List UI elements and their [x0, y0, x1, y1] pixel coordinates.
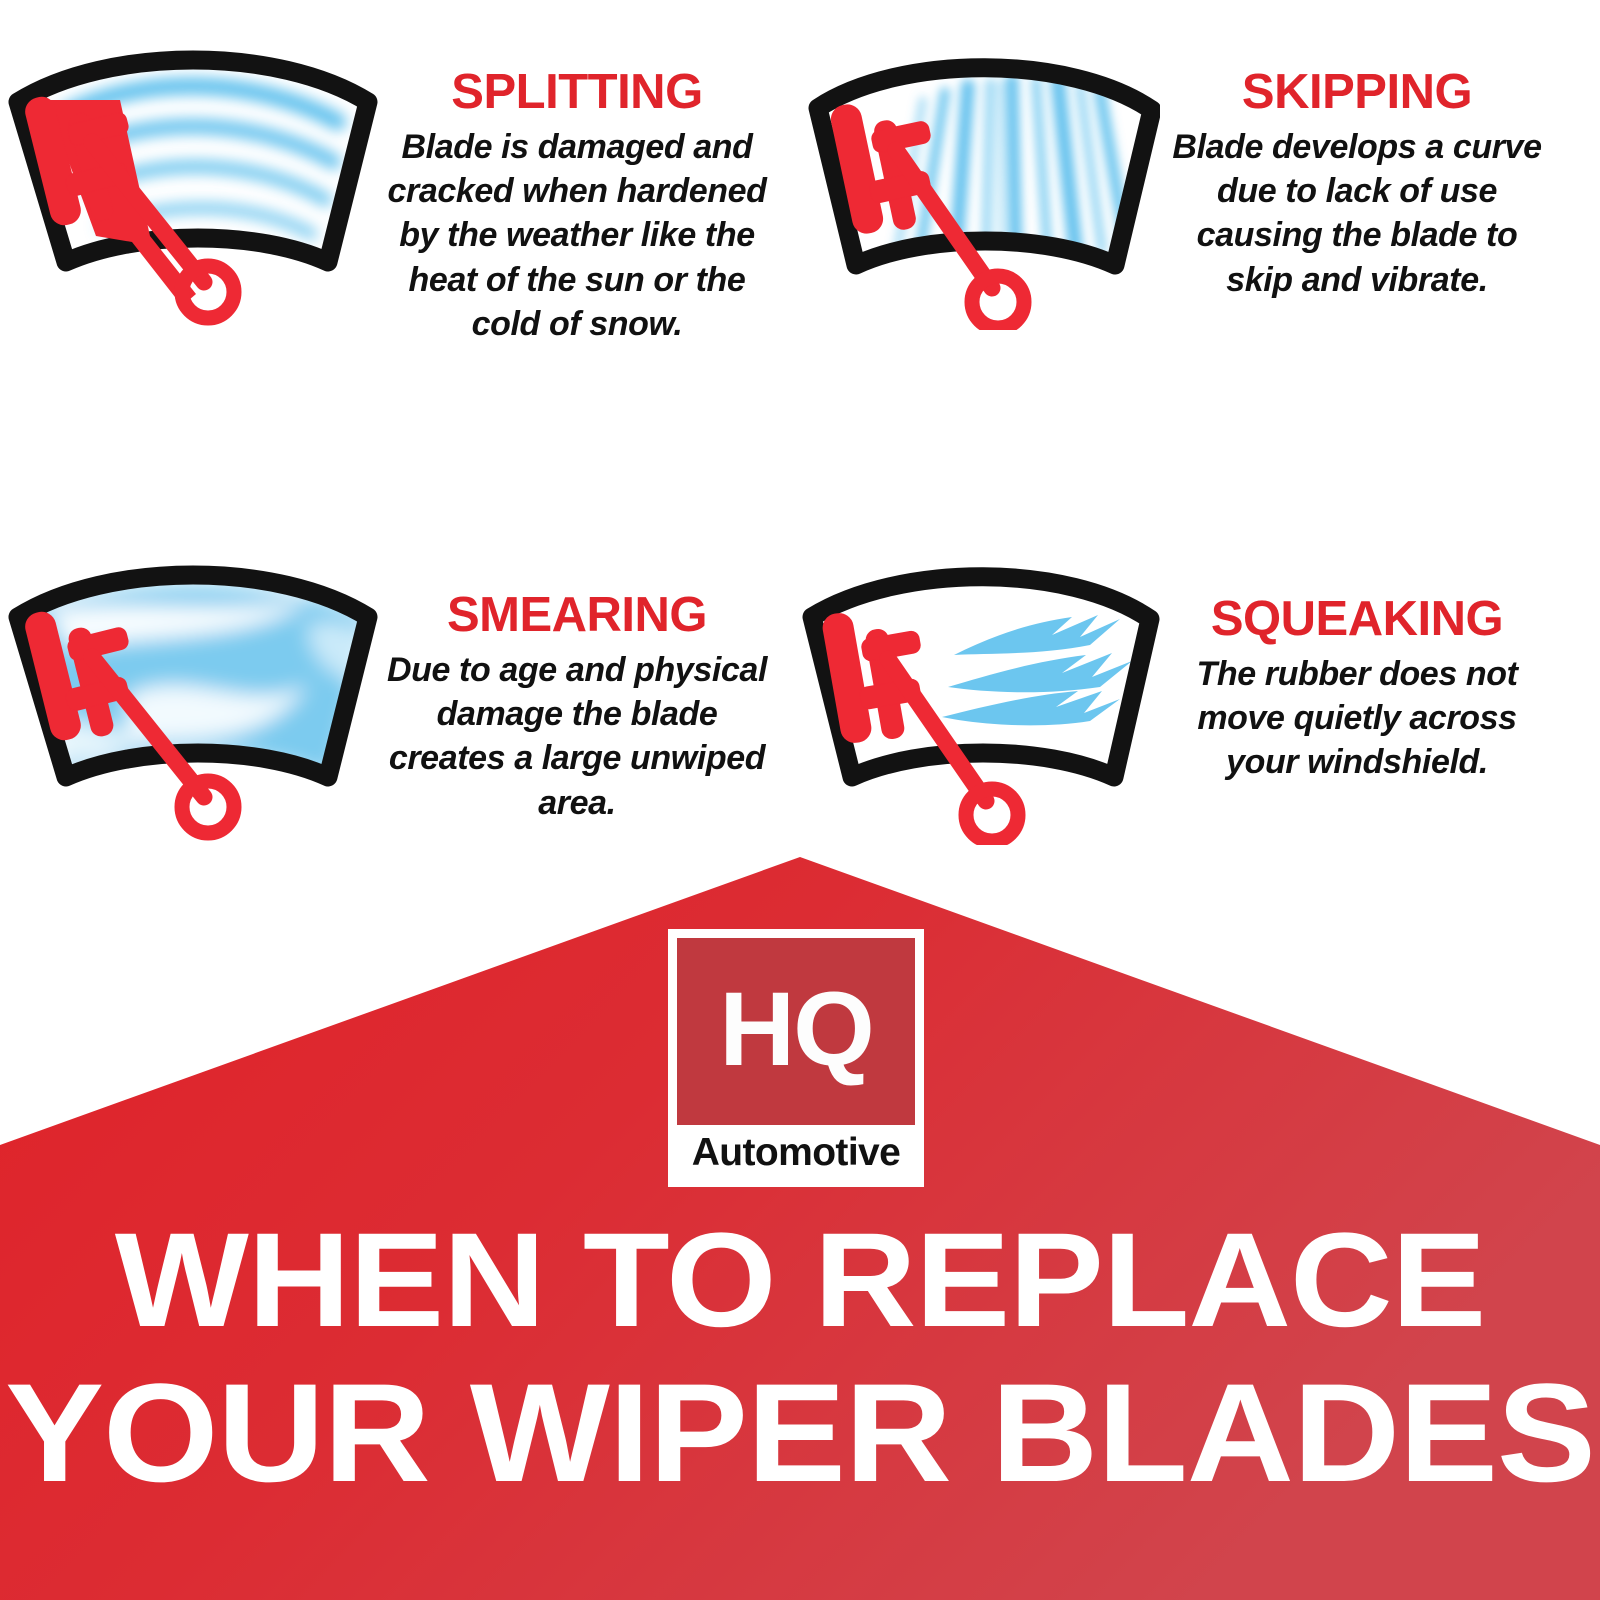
- symptom-card-grid: SPLITTING Blade is damaged and cracked w…: [0, 0, 1600, 860]
- infographic-page: SPLITTING Blade is damaged and cracked w…: [0, 0, 1600, 1600]
- symptom-card-text: SMEARING Due to age and physical damage …: [378, 545, 788, 825]
- logo-mark-box: HQ: [677, 938, 915, 1125]
- symptom-card-text: SQUEAKING The rubber does not move quiet…: [1160, 545, 1570, 785]
- windshield-wiper-smearing-icon: [8, 545, 378, 845]
- symptom-card-text: SPLITTING Blade is damaged and cracked w…: [378, 30, 788, 346]
- logo-mark-text: HQ: [719, 977, 873, 1086]
- symptom-description: Blade is damaged and cracked when harden…: [384, 125, 770, 346]
- headline-line-2: YOUR WIPER BLADES: [0, 1357, 1600, 1509]
- symptom-title: SKIPPING: [1166, 68, 1548, 117]
- symptom-description: Blade develops a curve due to lack of us…: [1166, 125, 1548, 302]
- symptom-description: The rubber does not move quietly across …: [1166, 652, 1548, 785]
- symptom-title: SPLITTING: [384, 68, 770, 117]
- headline: WHEN TO REPLACE YOUR WIPER BLADES: [0, 1205, 1600, 1509]
- windshield-wiper-skipping-icon: [790, 30, 1160, 330]
- symptom-description: Due to age and physical damage the blade…: [384, 648, 770, 825]
- symptom-card-text: SKIPPING Blade develops a curve due to l…: [1160, 30, 1570, 302]
- windshield-wiper-splitting-icon: [8, 30, 378, 330]
- windshield-wiper-squeaking-icon: [790, 545, 1160, 845]
- logo-wordmark: Automotive: [677, 1125, 915, 1187]
- symptom-title: SQUEAKING: [1166, 595, 1548, 644]
- headline-line-1: WHEN TO REPLACE: [0, 1205, 1600, 1357]
- symptom-card-splitting: SPLITTING Blade is damaged and cracked w…: [8, 30, 788, 430]
- symptom-card-skipping: SKIPPING Blade develops a curve due to l…: [790, 30, 1570, 430]
- symptom-title: SMEARING: [384, 591, 770, 640]
- hq-automotive-logo: HQ Automotive: [668, 929, 924, 1187]
